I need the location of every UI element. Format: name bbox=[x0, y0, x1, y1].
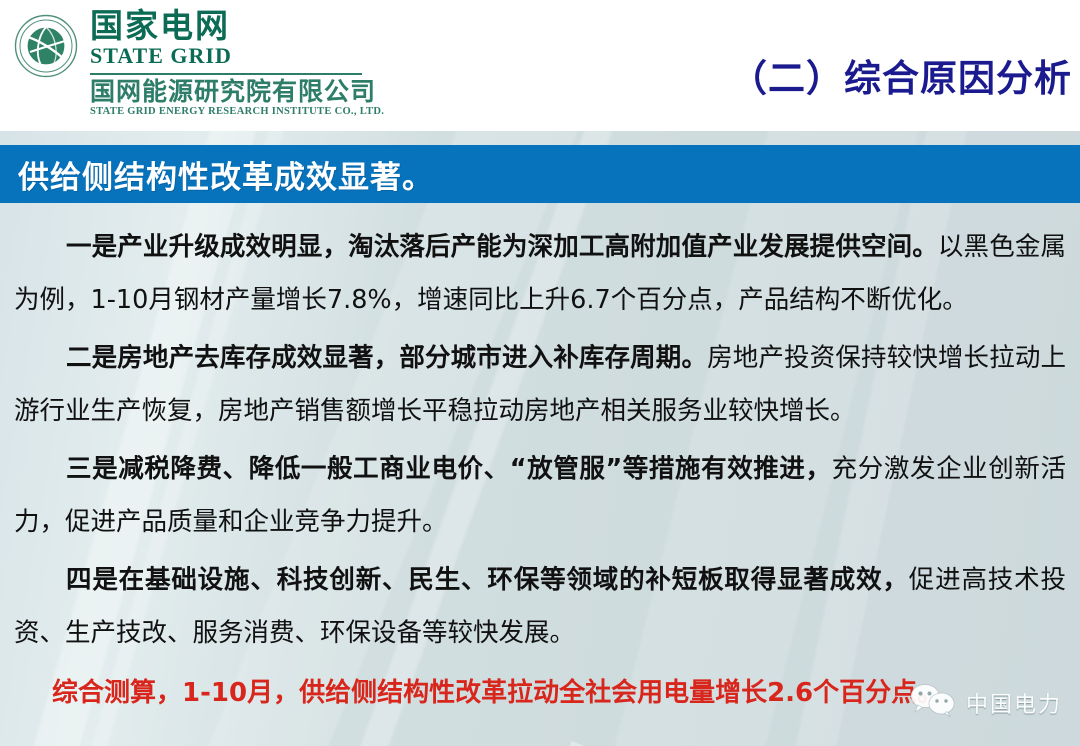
slide-header: 国家电网 STATE GRID 国网能源研究院有限公司 STATE GRID E… bbox=[0, 0, 1080, 131]
state-grid-globe-icon bbox=[14, 14, 78, 78]
paragraph-lead: 四是在基础设施、科技创新、民生、环保等领域的补短板取得显著成效， bbox=[66, 565, 909, 595]
brand-name-en: STATE GRID bbox=[90, 43, 232, 68]
logo-text-block: 国家电网 STATE GRID 国网能源研究院有限公司 STATE GRID E… bbox=[90, 8, 384, 118]
slide-body: 一是产业升级成效明显，淘汰落后产能为深加工高附加值产业发展提供空间。以黑色金属为… bbox=[0, 205, 1080, 665]
body-paragraph: 二是房地产去库存成效显著，部分城市进入补库存周期。房地产投资保持较快增长拉动上游… bbox=[14, 332, 1066, 438]
body-paragraph: 三是减税降费、降低一般工商业电价、“放管服”等措施有效推进，充分激发企业创新活力… bbox=[14, 443, 1066, 549]
institute-name-cn: 国网能源研究院有限公司 bbox=[90, 78, 384, 105]
body-paragraph: 四是在基础设施、科技创新、民生、环保等领域的补短板取得显著成效，促进高技术投资、… bbox=[14, 554, 1066, 660]
logo-divider bbox=[90, 73, 362, 75]
watermark-label: 中国电力 bbox=[966, 687, 1062, 719]
organization-logo: 国家电网 STATE GRID 国网能源研究院有限公司 STATE GRID E… bbox=[14, 8, 384, 118]
section-banner-label: 供给侧结构性改革成效显著。 bbox=[18, 152, 434, 197]
brand-name-cn: 国家电网 bbox=[90, 6, 230, 45]
body-paragraph: 一是产业升级成效明显，淘汰落后产能为深加工高附加值产业发展提供空间。以黑色金属为… bbox=[14, 221, 1066, 327]
conclusion-statement: 综合测算，1-10月，供给侧结构性改革拉动全社会用电量增长2.6个百分点。 bbox=[52, 672, 943, 709]
paragraph-lead: 三是减税降费、降低一般工商业电价、“放管服”等措施有效推进， bbox=[66, 454, 832, 484]
paragraph-lead: 二是房地产去库存成效显著，部分城市进入补库存周期。 bbox=[66, 343, 707, 373]
wechat-icon bbox=[909, 683, 957, 722]
slide-title: （二）综合原因分析 bbox=[730, 48, 1072, 102]
section-banner: 供给侧结构性改革成效显著。 bbox=[0, 145, 1080, 203]
institute-name-en: STATE GRID ENERGY RESEARCH INSTITUTE CO.… bbox=[90, 105, 384, 118]
slide: 国家电网 STATE GRID 国网能源研究院有限公司 STATE GRID E… bbox=[0, 0, 1080, 746]
paragraph-lead: 一是产业升级成效明显，淘汰落后产能为深加工高附加值产业发展提供空间。 bbox=[66, 232, 938, 262]
watermark: 中国电力 bbox=[909, 683, 1062, 722]
